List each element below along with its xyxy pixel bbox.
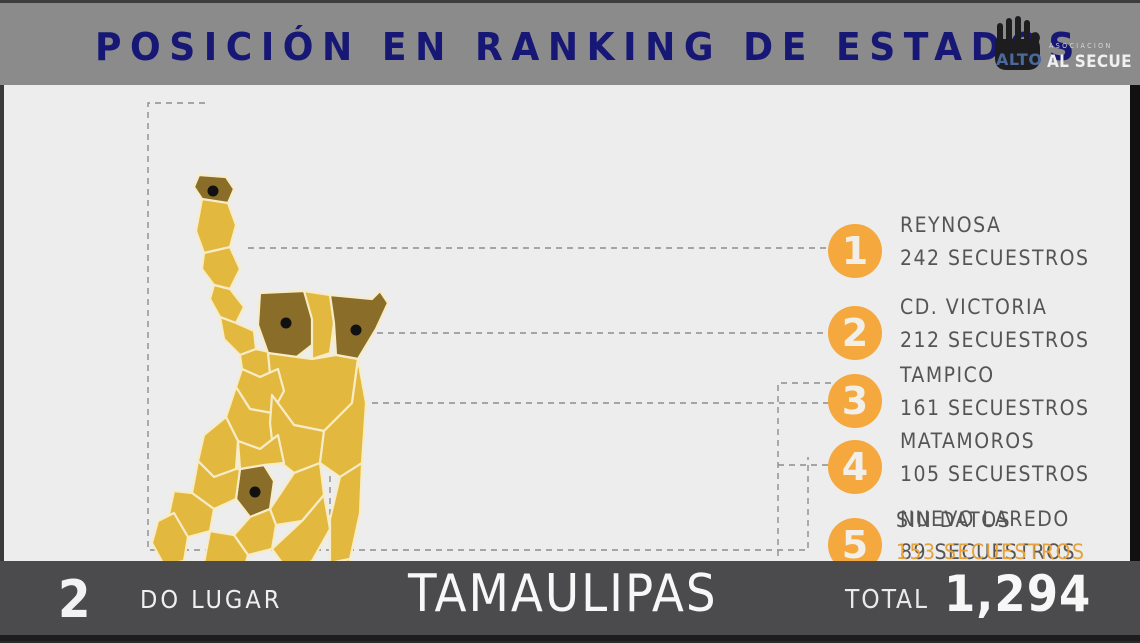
rank-badge-1: 1 [828, 224, 882, 278]
no-data-label: SIN DATOS [896, 505, 1140, 537]
rank-count-1: 242 SECUESTROS [900, 242, 1130, 275]
ranking-item-2[interactable]: 2 CD. VICTORIA 212 SECUESTROS [828, 306, 1128, 368]
municipality-matamoros [330, 291, 388, 359]
marker-nuevo-laredo [208, 186, 219, 197]
organization-logo: ALTO AL SECUESTRO ASOCIACION [985, 13, 1131, 79]
footer-bar: 2 DO LUGAR TAMAULIPAS TOTAL 1,294 [0, 561, 1140, 641]
rank-badge-2: 2 [828, 306, 882, 360]
municipality-n3 [210, 285, 244, 323]
footer-rank-number: 2 [58, 570, 91, 630]
rank-count-3: 161 SECUESTROS [900, 392, 1130, 425]
logo-svg: ALTO AL SECUESTRO ASOCIACION [985, 13, 1131, 79]
marker-matamoros [351, 325, 362, 336]
logo-alto-text: ALTO [996, 50, 1042, 69]
page-title: POSICIÓN EN RANKING DE ESTADOS [95, 25, 1083, 69]
rank-text-3: TAMPICO 161 SECUESTROS [900, 360, 1130, 424]
municipality-n4 [220, 317, 256, 355]
main-canvas: 1 REYNOSA 242 SECUESTROS 2 CD. VICTORIA … [0, 85, 1140, 561]
rank-count-4: 105 SECUESTROS [900, 458, 1130, 491]
footer-total-label: TOTAL [845, 585, 929, 615]
rank-city-3: TAMPICO [900, 360, 1130, 392]
ranking-item-4[interactable]: 4 MATAMOROS 105 SECUESTROS [828, 440, 1128, 502]
rank-city-4: MATAMOROS [900, 426, 1130, 458]
rank-count-2: 212 SECUESTROS [900, 324, 1130, 357]
rank-text-4: MATAMOROS 105 SECUESTROS [900, 426, 1130, 490]
footer-total-value: 1,294 [944, 565, 1091, 623]
footer-state-name: TAMAULIPAS [408, 564, 718, 624]
rank-city-2: CD. VICTORIA [900, 292, 1130, 324]
rank-badge-3: 3 [828, 374, 882, 428]
logo-asociacion-text: ASOCIACION [1049, 42, 1113, 50]
no-data-entry: SIN DATOS 153 SECUESTROS [896, 505, 1140, 568]
infographic-root: POSICIÓN EN RANKING DE ESTADOS ALTO AL S… [0, 0, 1140, 641]
footer-rank-suffix: DO LUGAR [140, 585, 282, 614]
municipality-coast2 [330, 463, 362, 563]
rank-text-2: CD. VICTORIA 212 SECUESTROS [900, 292, 1130, 356]
rank-text-1: REYNOSA 242 SECUESTROS [900, 210, 1130, 274]
logo-main-text: AL SECUESTRO [1047, 52, 1131, 72]
municipality-n2 [202, 247, 240, 289]
ranking-item-1[interactable]: 1 REYNOSA 242 SECUESTROS [828, 224, 1128, 286]
rank-badge-4: 4 [828, 440, 882, 494]
header-bar: POSICIÓN EN RANKING DE ESTADOS ALTO AL S… [0, 0, 1140, 85]
marker-reynosa [281, 318, 292, 329]
marker-cd-victoria [250, 487, 261, 498]
rank-city-1: REYNOSA [900, 210, 1130, 242]
